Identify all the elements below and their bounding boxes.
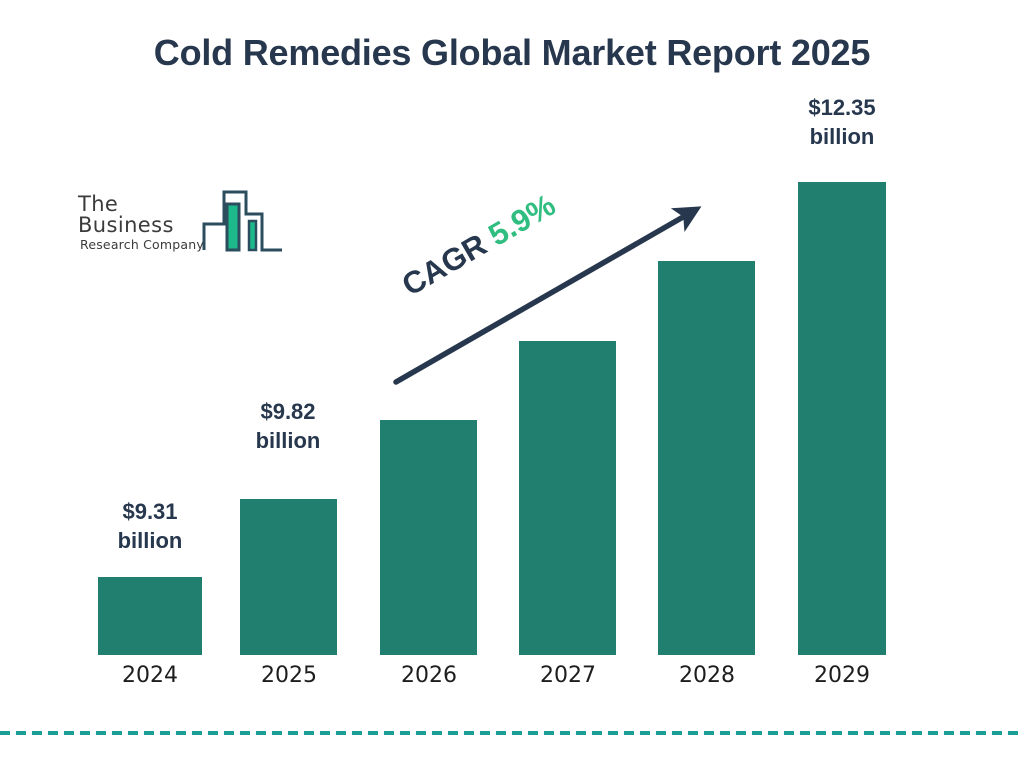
chart-page: Cold Remedies Global Market Report 2025 … xyxy=(0,0,1024,768)
bar-value-amount: $12.35 xyxy=(770,93,914,122)
bar-2026 xyxy=(380,420,477,655)
bar-2029 xyxy=(798,182,886,655)
bar-value-amount: $9.31 xyxy=(78,497,222,526)
bar-value-amount: $9.82 xyxy=(216,397,360,426)
x-tick-2026: 2026 xyxy=(357,663,501,688)
bar-2024 xyxy=(98,577,202,655)
bar-value-unit: billion xyxy=(770,122,914,151)
x-tick-2024: 2024 xyxy=(78,663,222,688)
bar-value-2029: $12.35 billion xyxy=(770,93,914,151)
x-tick-2027: 2027 xyxy=(496,663,640,688)
bar-value-2024: $9.31 billion xyxy=(78,497,222,555)
bar-value-2025: $9.82 billion xyxy=(216,397,360,455)
bar-2025 xyxy=(240,499,337,655)
x-tick-2025: 2025 xyxy=(217,663,361,688)
bottom-divider xyxy=(0,731,1024,735)
bar-value-unit: billion xyxy=(78,526,222,555)
x-tick-2028: 2028 xyxy=(635,663,779,688)
x-tick-2029: 2029 xyxy=(770,663,914,688)
bar-value-unit: billion xyxy=(216,426,360,455)
